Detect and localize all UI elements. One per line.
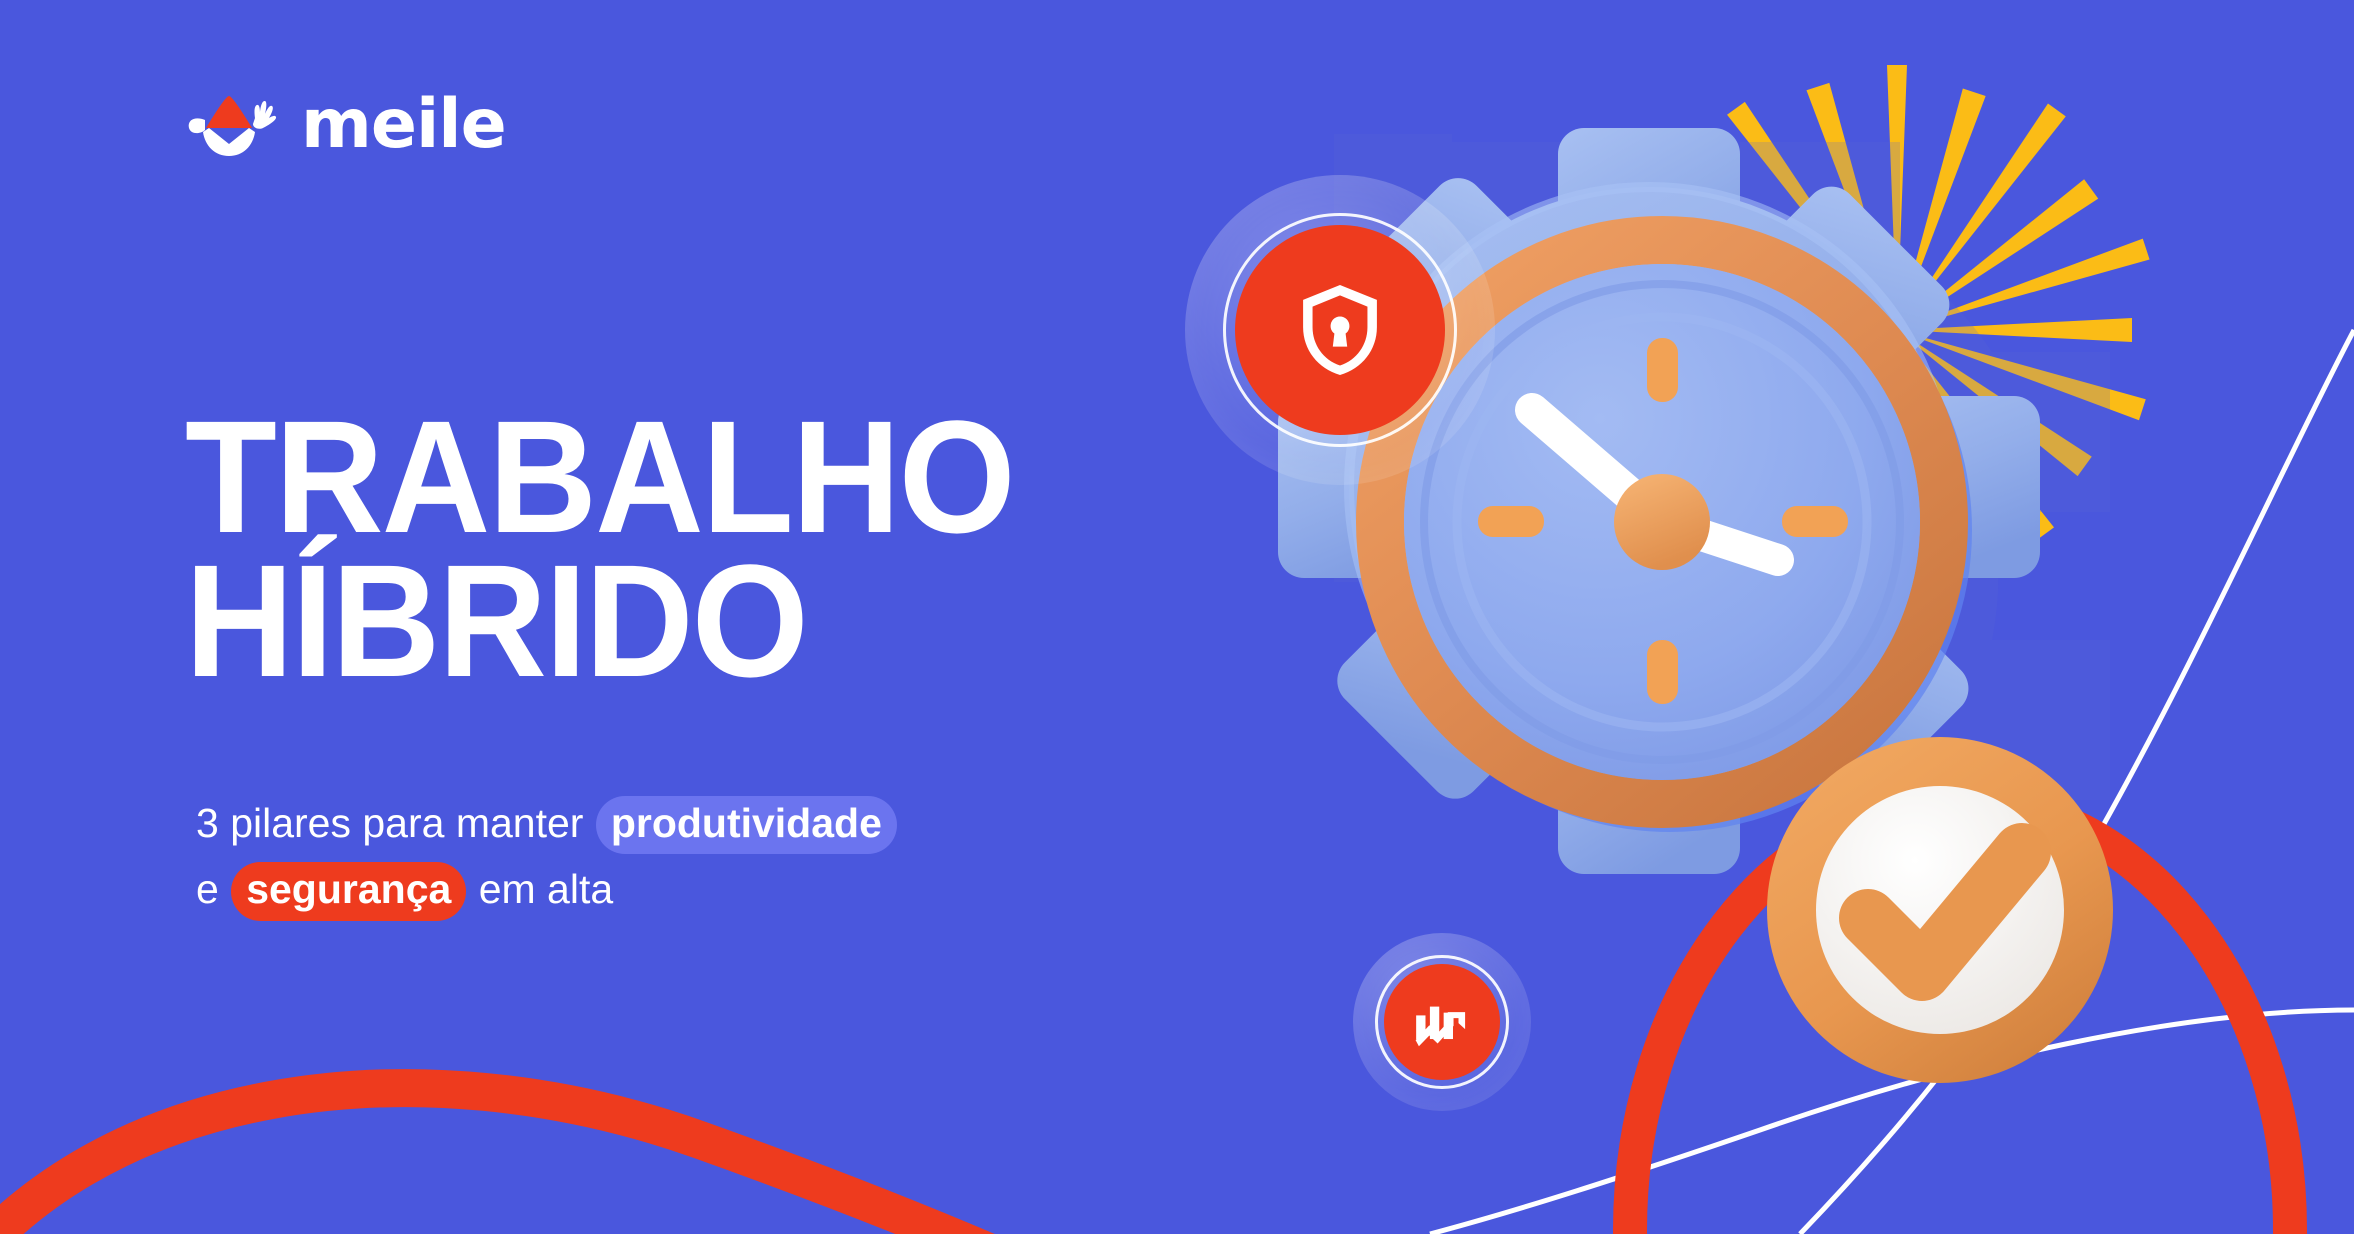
badge-security[interactable] (1185, 175, 1495, 485)
check-circle-badge-icon (1767, 737, 2113, 1083)
page-title: TRABALHO HÍBRIDO (185, 405, 1014, 693)
brand-name: meile (301, 91, 506, 159)
subtitle-text-conjunction: e (196, 866, 230, 912)
subtitle-text-suffix: em alta (467, 866, 613, 912)
subtitle-line-2: e segurança em alta (196, 856, 898, 922)
brand-logo[interactable]: meile (183, 88, 506, 162)
headline-line-2: HÍBRIDO (185, 549, 1014, 693)
subtitle-text-prefix: 3 pilares para manter (196, 800, 595, 846)
gnome-with-red-hat-icon (183, 90, 279, 160)
subtitle-line-1: 3 pilares para manter produtividade (196, 790, 898, 856)
highlight-produtividade: produtividade (596, 796, 897, 854)
shield-lock-icon (1235, 225, 1445, 435)
page-subtitle: 3 pilares para manter produtividade e se… (196, 790, 898, 923)
highlight-seguranca: segurança (231, 862, 466, 920)
bar-chart-arrow-up-icon (1384, 964, 1500, 1080)
headline-line-1: TRABALHO (185, 405, 1014, 549)
promo-banner: meile TRABALHO HÍBRIDO 3 pilares para ma… (0, 0, 2354, 1234)
badge-productivity[interactable] (1353, 933, 1531, 1111)
red-arc-bottom-left (0, 1088, 1180, 1234)
